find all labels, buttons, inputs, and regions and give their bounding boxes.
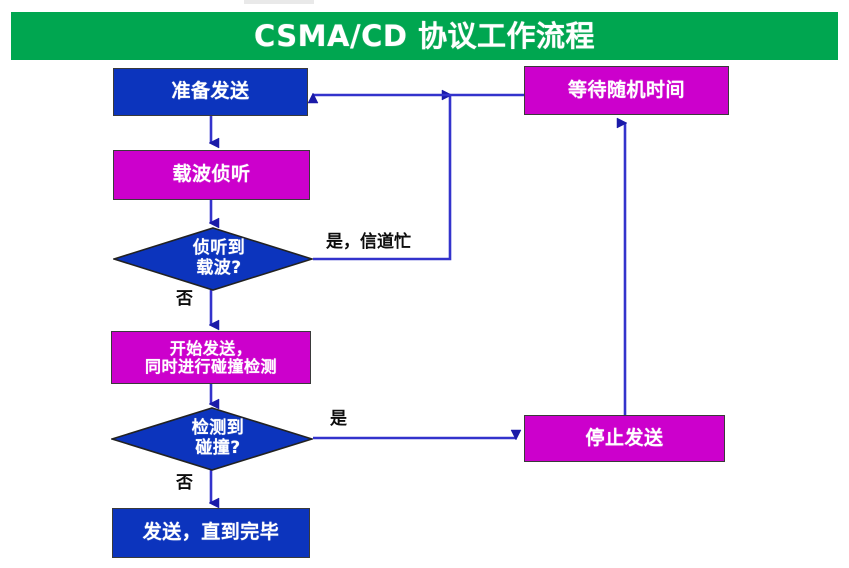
node-start-send-detect-label: 开始发送， 同时进行碰撞检测 — [141, 340, 281, 376]
edge-label-busy: 是，信道忙 — [326, 234, 411, 251]
decision-collision-line1: 检测到 — [192, 418, 245, 438]
node-carrier-sense-label: 载波侦听 — [168, 164, 254, 185]
node-carrier-sense[interactable]: 载波侦听 — [113, 150, 310, 200]
edge-label-no-carrier: 否 — [176, 291, 193, 308]
slide-edge-artifact — [244, 0, 314, 4]
node-prepare-send-label: 准备发送 — [167, 81, 253, 102]
edge-label-no-collision: 否 — [176, 475, 193, 492]
start-send-line2: 同时进行碰撞检测 — [145, 358, 277, 376]
node-stop-send[interactable]: 停止发送 — [524, 415, 725, 462]
node-send-until-complete-label: 发送，直到完毕 — [139, 522, 284, 543]
node-wait-random-time-label: 等待随机时间 — [564, 80, 689, 101]
decision-carrier-line1: 侦听到 — [193, 238, 246, 258]
node-start-send-detect[interactable]: 开始发送， 同时进行碰撞检测 — [111, 331, 311, 384]
start-send-line1: 开始发送， — [170, 339, 253, 358]
node-decision-carrier-detected[interactable]: 侦听到 载波? — [113, 227, 313, 291]
page-title: CSMA/CD 协议工作流程 — [254, 22, 595, 51]
node-decision-carrier-label: 侦听到 载波? — [193, 239, 246, 278]
title-banner: CSMA/CD 协议工作流程 — [11, 12, 838, 60]
node-decision-collision-detected[interactable]: 检测到 碰撞? — [111, 407, 313, 471]
node-send-until-complete[interactable]: 发送，直到完毕 — [112, 508, 310, 558]
diagram-canvas: CSMA/CD 协议工作流程 — [0, 0, 849, 568]
node-stop-send-label: 停止发送 — [581, 428, 667, 449]
edge-label-yes-collision: 是 — [330, 411, 347, 428]
decision-collision-line2: 碰撞? — [192, 439, 245, 459]
node-decision-collision-label: 检测到 碰撞? — [192, 419, 245, 458]
node-wait-random-time[interactable]: 等待随机时间 — [524, 66, 729, 115]
node-prepare-send[interactable]: 准备发送 — [113, 68, 308, 116]
decision-carrier-line2: 载波? — [193, 259, 246, 279]
